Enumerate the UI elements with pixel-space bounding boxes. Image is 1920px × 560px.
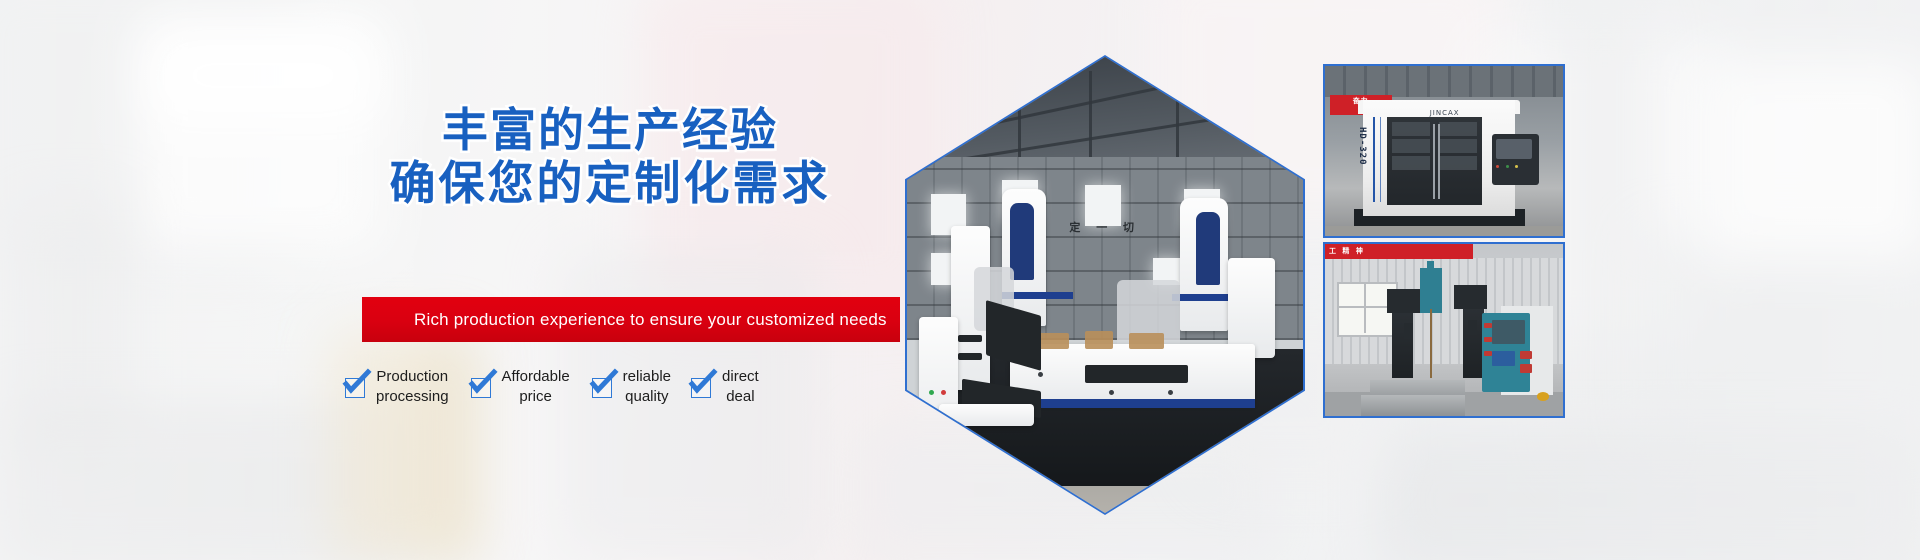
feature-item-affordable-price[interactable]: Affordable price [471, 368, 570, 406]
feature-label-line-2: processing [376, 388, 449, 406]
feature-label-line-2: quality [623, 388, 671, 406]
feature-item-reliable-quality[interactable]: reliable quality [592, 368, 671, 406]
machine-brand-label: JINCAX [1430, 109, 1460, 117]
feature-label-line-1: Affordable [502, 368, 570, 386]
wall-sign-text: 工 精 神 [1325, 244, 1473, 258]
side-photo-gantry-mill[interactable]: 工 精 神 [1323, 242, 1565, 418]
side-photo-cnc-machining-center[interactable]: 奋力 HD-320 JINCAX [1323, 64, 1565, 238]
feature-label: Production processing [376, 368, 449, 406]
headline-line-1: 丰富的生产经验 [330, 104, 890, 157]
feature-label: direct deal [722, 368, 759, 406]
hero-photo-hexagon[interactable]: 定 一 切 品 [905, 55, 1305, 515]
checkbox-checked-icon [592, 378, 612, 398]
feature-item-production-processing[interactable]: Production processing [345, 368, 449, 406]
feature-label-line-2: price [502, 388, 570, 406]
promo-banner: 丰富的生产经验 确保您的定制化需求 Rich production experi… [0, 0, 1920, 560]
checkbox-checked-icon [345, 378, 365, 398]
checkbox-checked-icon [471, 378, 491, 398]
subtitle-text: Rich production experience to ensure you… [362, 310, 887, 330]
feature-label: reliable quality [623, 368, 671, 406]
wall-sign: 工 精 神 [1325, 244, 1473, 259]
feature-label-line-1: reliable [623, 368, 671, 386]
subtitle-bar: Rich production experience to ensure you… [362, 297, 900, 342]
hexagon-photo-content: 定 一 切 品 [907, 57, 1303, 513]
feature-list: Production processing Affordable price r… [345, 368, 759, 406]
headline-line-2: 确保您的定制化需求 [330, 157, 890, 210]
feature-label-line-1: Production [376, 368, 449, 386]
feature-label-line-2: deal [722, 388, 759, 406]
feature-item-direct-deal[interactable]: direct deal [691, 368, 759, 406]
headline: 丰富的生产经验 确保您的定制化需求 [330, 104, 890, 211]
feature-label: Affordable price [502, 368, 570, 406]
feature-label-line-1: direct [722, 368, 759, 386]
checkbox-checked-icon [691, 378, 711, 398]
machine-model-label: HD-320 [1357, 127, 1367, 166]
